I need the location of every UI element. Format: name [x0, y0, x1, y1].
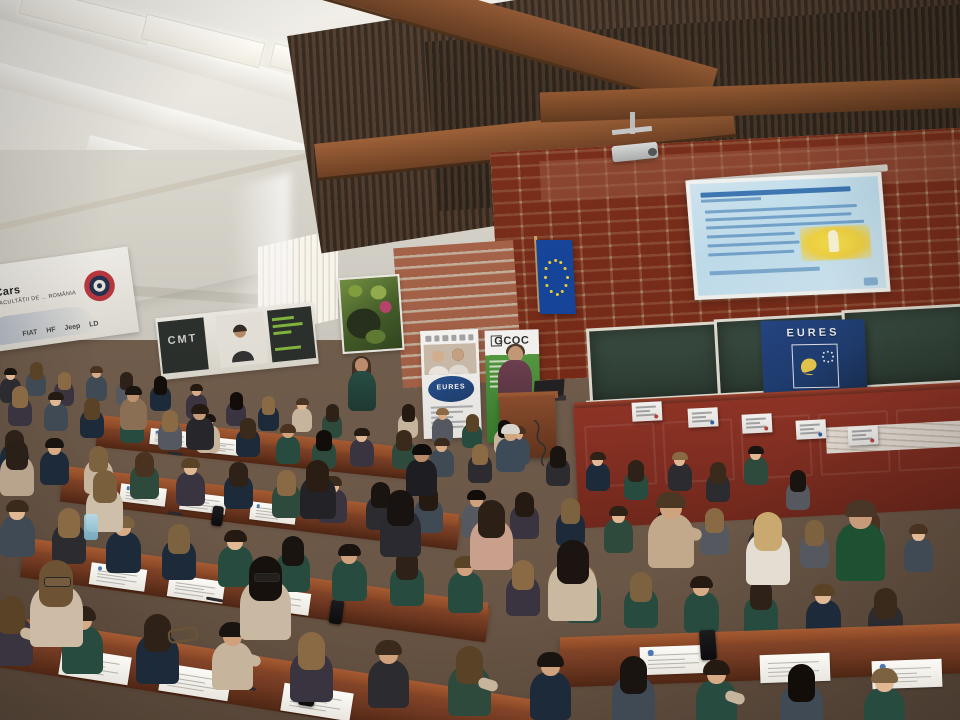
audience-hair [90, 366, 104, 373]
audience-hair [326, 404, 339, 422]
audience-member [746, 512, 790, 580]
audience-hair [630, 572, 652, 602]
audience-torso [864, 688, 905, 720]
audience-member [468, 444, 492, 480]
audience-member [556, 498, 585, 543]
audience-hair [277, 470, 296, 496]
audience-member [780, 664, 823, 720]
audience-torso [176, 472, 205, 506]
paper-text-line [648, 654, 698, 657]
audience-member [0, 596, 33, 661]
audience-hair [6, 500, 28, 512]
audience-member [548, 540, 597, 615]
audience-hair [590, 452, 605, 460]
audience-member [786, 470, 810, 507]
audience-member [40, 438, 69, 482]
eyeglasses-on-desk-icon[interactable] [167, 626, 199, 644]
audience-torso [332, 560, 367, 601]
audience-member [380, 490, 421, 552]
audience-member [510, 492, 539, 536]
audience-member [300, 460, 336, 515]
audience-member [368, 640, 409, 703]
audience-member [332, 544, 367, 597]
audience-hair [296, 398, 309, 405]
audience-hair [402, 404, 415, 422]
audience-member [176, 458, 205, 503]
audience-hair [472, 444, 487, 465]
audience-member [648, 492, 694, 562]
lecture-hall-photo: EURES Cars FACULTĂȚII DE ... ROMÂNIA FIA… [0, 0, 960, 720]
audience-torso [530, 672, 571, 720]
audience-member [224, 462, 253, 506]
audience-member [158, 410, 182, 447]
audience-member [448, 646, 491, 711]
audience-hair [338, 544, 360, 556]
water-bottle[interactable] [84, 514, 98, 540]
audience-hair [557, 540, 589, 584]
audience-member [0, 500, 35, 553]
audience-member [30, 560, 83, 641]
audience-hair [788, 664, 816, 702]
audience-torso [106, 532, 141, 573]
audience-member [8, 386, 32, 423]
audience-hair [874, 588, 896, 619]
audience-torso [212, 642, 253, 691]
audience-hair [154, 376, 168, 395]
audience-hair [4, 368, 18, 375]
audience-hair [375, 640, 402, 655]
audience-torso [44, 403, 68, 431]
smartphone[interactable] [699, 629, 717, 660]
audience-hair [754, 512, 783, 551]
audience-member [86, 366, 107, 398]
audience-member [612, 656, 655, 720]
audience-hair [436, 408, 450, 415]
audience [0, 0, 960, 720]
audience-member [150, 376, 171, 408]
audience-member [586, 452, 610, 488]
eyeglasses-icon [44, 577, 71, 587]
audience-hair [387, 490, 413, 526]
audience-member [904, 524, 933, 569]
audience-torso [684, 592, 719, 633]
audience-hair [12, 386, 28, 408]
pen[interactable] [168, 451, 182, 456]
audience-torso [496, 438, 525, 472]
audience-hair [316, 430, 331, 451]
audience-member [864, 668, 905, 720]
audience-member [684, 576, 719, 629]
audience-torso [744, 457, 768, 485]
audience-hair [298, 632, 326, 670]
audience-torso [448, 572, 483, 613]
audience-hair [280, 424, 296, 433]
audience-member [800, 520, 829, 565]
audience-hair [703, 660, 730, 675]
audience-torso [904, 538, 933, 572]
audience-member [700, 508, 729, 552]
audience-hair [58, 372, 71, 390]
audience-hair [512, 560, 534, 590]
audience-member [0, 440, 34, 492]
audience-hair [93, 470, 117, 503]
audience-hair [181, 458, 200, 468]
audience-hair [478, 500, 506, 538]
audience-hair [168, 524, 190, 554]
audience-torso [668, 463, 692, 491]
audience-member [470, 500, 513, 565]
audience-torso [86, 376, 107, 401]
audience-member [120, 386, 147, 427]
audience-hair [89, 446, 108, 472]
audience-member [624, 460, 648, 497]
audience-member [236, 418, 260, 454]
audience-member [696, 660, 737, 720]
audience-hair [230, 392, 243, 410]
audience-member [44, 392, 68, 428]
audience-hair [125, 386, 142, 395]
audience-hair [84, 398, 100, 420]
audience-hair [306, 460, 329, 492]
audience-hair [224, 530, 246, 542]
audience-member [744, 446, 768, 482]
audience-hair [6, 440, 28, 470]
audience-hair [354, 428, 369, 436]
audience-torso [186, 417, 214, 450]
audience-hair [609, 506, 627, 516]
audience-torso [586, 463, 610, 491]
audience-member [604, 506, 633, 550]
audience-hair [48, 392, 63, 400]
paper-seal-icon [256, 504, 260, 508]
audience-member [136, 614, 179, 679]
audience-member [80, 398, 104, 435]
audience-hair [705, 508, 723, 533]
audience-hair [162, 410, 178, 432]
audience-hair [812, 584, 834, 596]
audience-hair [805, 520, 824, 546]
audience-member [406, 444, 437, 492]
audience-torso [604, 519, 633, 553]
audience-hair [191, 404, 209, 414]
audience-member [432, 408, 453, 440]
audience-member [624, 572, 658, 624]
audience-hair [537, 652, 564, 667]
audience-hair [229, 462, 247, 487]
audience-member [390, 550, 424, 602]
audience-member [706, 462, 730, 499]
audience-hair [240, 418, 255, 439]
paper-text-line [649, 662, 699, 665]
audience-member [186, 404, 214, 447]
audience-torso [648, 514, 694, 568]
audience-hair [871, 668, 898, 683]
audience-hair [515, 492, 533, 517]
audience-hair [790, 470, 806, 492]
audience-hair [672, 452, 687, 460]
audience-hair [656, 492, 686, 508]
audience-member [496, 424, 525, 469]
audience-hair [501, 424, 520, 434]
audience-hair [466, 414, 479, 432]
audience-member [272, 470, 301, 515]
audience-hair [561, 498, 580, 524]
audience-torso [40, 451, 69, 485]
audience-member [290, 632, 333, 697]
audience-hair [909, 524, 928, 534]
audience-member [130, 452, 159, 496]
audience-torso [836, 523, 885, 581]
audience-member [668, 452, 692, 488]
audience-torso [368, 660, 409, 709]
audience-member [276, 424, 300, 461]
audience-member [836, 500, 885, 575]
audience-hair [690, 576, 712, 588]
audience-hair [467, 490, 486, 500]
audience-member [350, 428, 374, 464]
audience-member [462, 414, 482, 445]
audience-hair [45, 438, 63, 448]
audience-member [52, 508, 86, 560]
audience-hair [620, 656, 648, 694]
audience-member [530, 652, 571, 715]
audience-hair [135, 452, 153, 477]
audience-hair [550, 446, 566, 468]
audience-hair [748, 446, 763, 454]
smartphone[interactable] [211, 505, 224, 526]
audience-torso [276, 436, 300, 465]
audience-hair [30, 362, 43, 380]
audience-torso [120, 398, 147, 429]
audience-member [240, 556, 291, 634]
audience-hair [190, 384, 204, 391]
audience-hair [412, 444, 432, 455]
audience-hair [58, 508, 80, 538]
audience-torso [0, 516, 35, 557]
audience-hair [710, 462, 726, 484]
audience-hair [456, 646, 484, 684]
audience-member [744, 580, 778, 632]
audience-torso [350, 439, 374, 467]
audience-hair [845, 500, 877, 517]
eyeglasses-icon [254, 573, 280, 583]
audience-member [162, 524, 196, 576]
audience-hair [262, 396, 276, 415]
audience-member [546, 446, 570, 483]
audience-hair [628, 460, 644, 482]
